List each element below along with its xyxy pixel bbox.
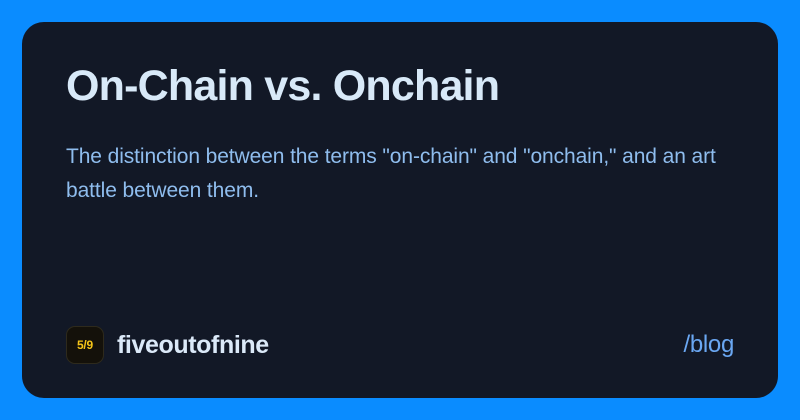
brand[interactable]: 5/9 fiveoutofnine — [66, 326, 269, 364]
brand-badge-label: 5/9 — [77, 339, 93, 351]
brand-name: fiveoutofnine — [117, 333, 269, 358]
card-footer: 5/9 fiveoutofnine /blog — [66, 326, 734, 364]
page-title: On-Chain vs. Onchain — [66, 62, 734, 110]
card-header: On-Chain vs. Onchain The distinction bet… — [66, 62, 734, 208]
og-image-canvas: On-Chain vs. Onchain The distinction bet… — [0, 0, 800, 420]
card-description: The distinction between the terms "on-ch… — [66, 140, 726, 208]
blog-link[interactable]: /blog — [683, 333, 734, 357]
fiveoutofnine-logo-icon: 5/9 — [66, 326, 104, 364]
card-spacer — [66, 208, 734, 326]
preview-card: On-Chain vs. Onchain The distinction bet… — [22, 22, 778, 398]
